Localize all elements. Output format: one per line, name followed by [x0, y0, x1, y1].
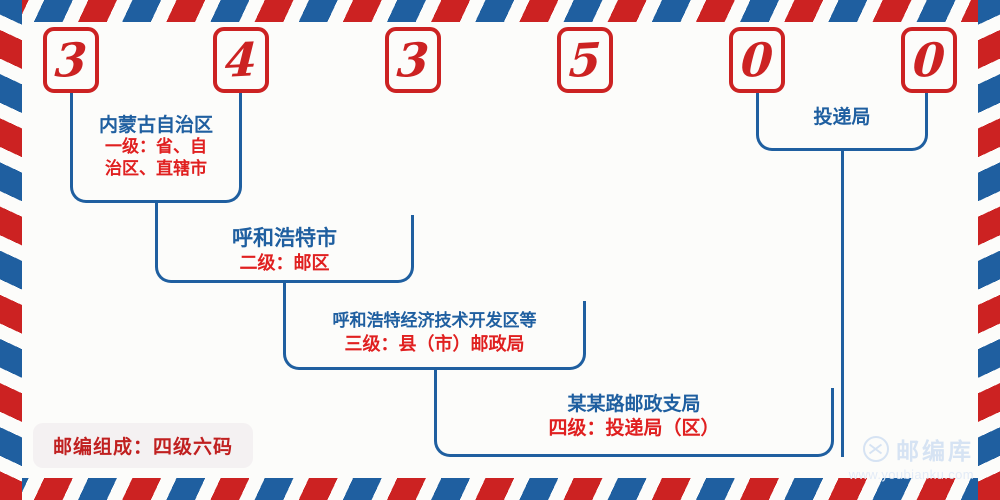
envelope-circle-icon	[863, 436, 889, 462]
label-group-level-2: 呼和浩特市 二级：邮区	[155, 225, 414, 275]
label-group-level-4: 某某路邮政支局 四级：投递局（区）	[434, 392, 834, 441]
label-group-delivery-office: 投递局	[756, 105, 928, 129]
envelope-border-left	[0, 0, 22, 500]
watermark-row: 邮编库	[849, 432, 974, 466]
postcode-digit-box-3: 3	[385, 27, 441, 93]
postcode-digit-box-4: 5	[557, 27, 613, 93]
level-1-name: 内蒙古自治区	[70, 113, 242, 137]
watermark-brand: 邮编库	[896, 432, 974, 466]
label-group-level-1: 内蒙古自治区 一级：省、自 治区、直辖市	[70, 113, 242, 181]
label-group-level-3: 呼和浩特经济技术开发区等 三级：县（市）邮政局	[283, 311, 586, 356]
connector-level-2-to-3	[283, 283, 286, 303]
postcode-digit-2: 4	[224, 36, 259, 84]
level-2-name: 呼和浩特市	[155, 225, 414, 252]
envelope-border-top	[0, 0, 1000, 22]
level-2-level: 二级：邮区	[155, 252, 414, 275]
postcode-digit-4: 5	[568, 36, 603, 84]
postcode-digit-6: 0	[912, 36, 947, 84]
postcode-digit-box-2: 4	[213, 27, 269, 93]
caption-badge: 邮编组成：四级六码	[33, 423, 253, 468]
connector-level-3-to-4	[434, 370, 437, 390]
level-4-name: 某某路邮政支局	[434, 392, 834, 416]
watermark-url: www.youbianku.com	[849, 467, 974, 482]
level-3-name: 呼和浩特经济技术开发区等	[283, 311, 586, 333]
level-1-level-line2: 治区、直辖市	[70, 159, 242, 181]
level-3-level: 三级：县（市）邮政局	[283, 333, 586, 356]
postcode-digit-1: 3	[54, 36, 89, 84]
level-1-level-line1: 一级：省、自	[70, 137, 242, 159]
postcode-digit-box-5: 0	[729, 27, 785, 93]
postcode-digit-box-6: 0	[901, 27, 957, 93]
postcode-digit-box-1: 3	[43, 27, 99, 93]
caption-text: 邮编组成：四级六码	[53, 436, 233, 458]
delivery-office-label: 投递局	[756, 105, 928, 129]
postcode-structure-diagram: 3 4 3 5 0 0 内蒙古自治区 一级：省、自 治区、直辖市 呼和浩特市 二…	[0, 0, 1000, 500]
envelope-border-right	[978, 0, 1000, 500]
postcode-digit-3: 3	[396, 36, 431, 84]
level-4-level: 四级：投递局（区）	[434, 416, 834, 440]
connector-delivery-office-to-level-4	[841, 151, 844, 457]
watermark: 邮编库 www.youbianku.com	[849, 432, 974, 482]
postcode-digit-5: 0	[740, 36, 775, 84]
